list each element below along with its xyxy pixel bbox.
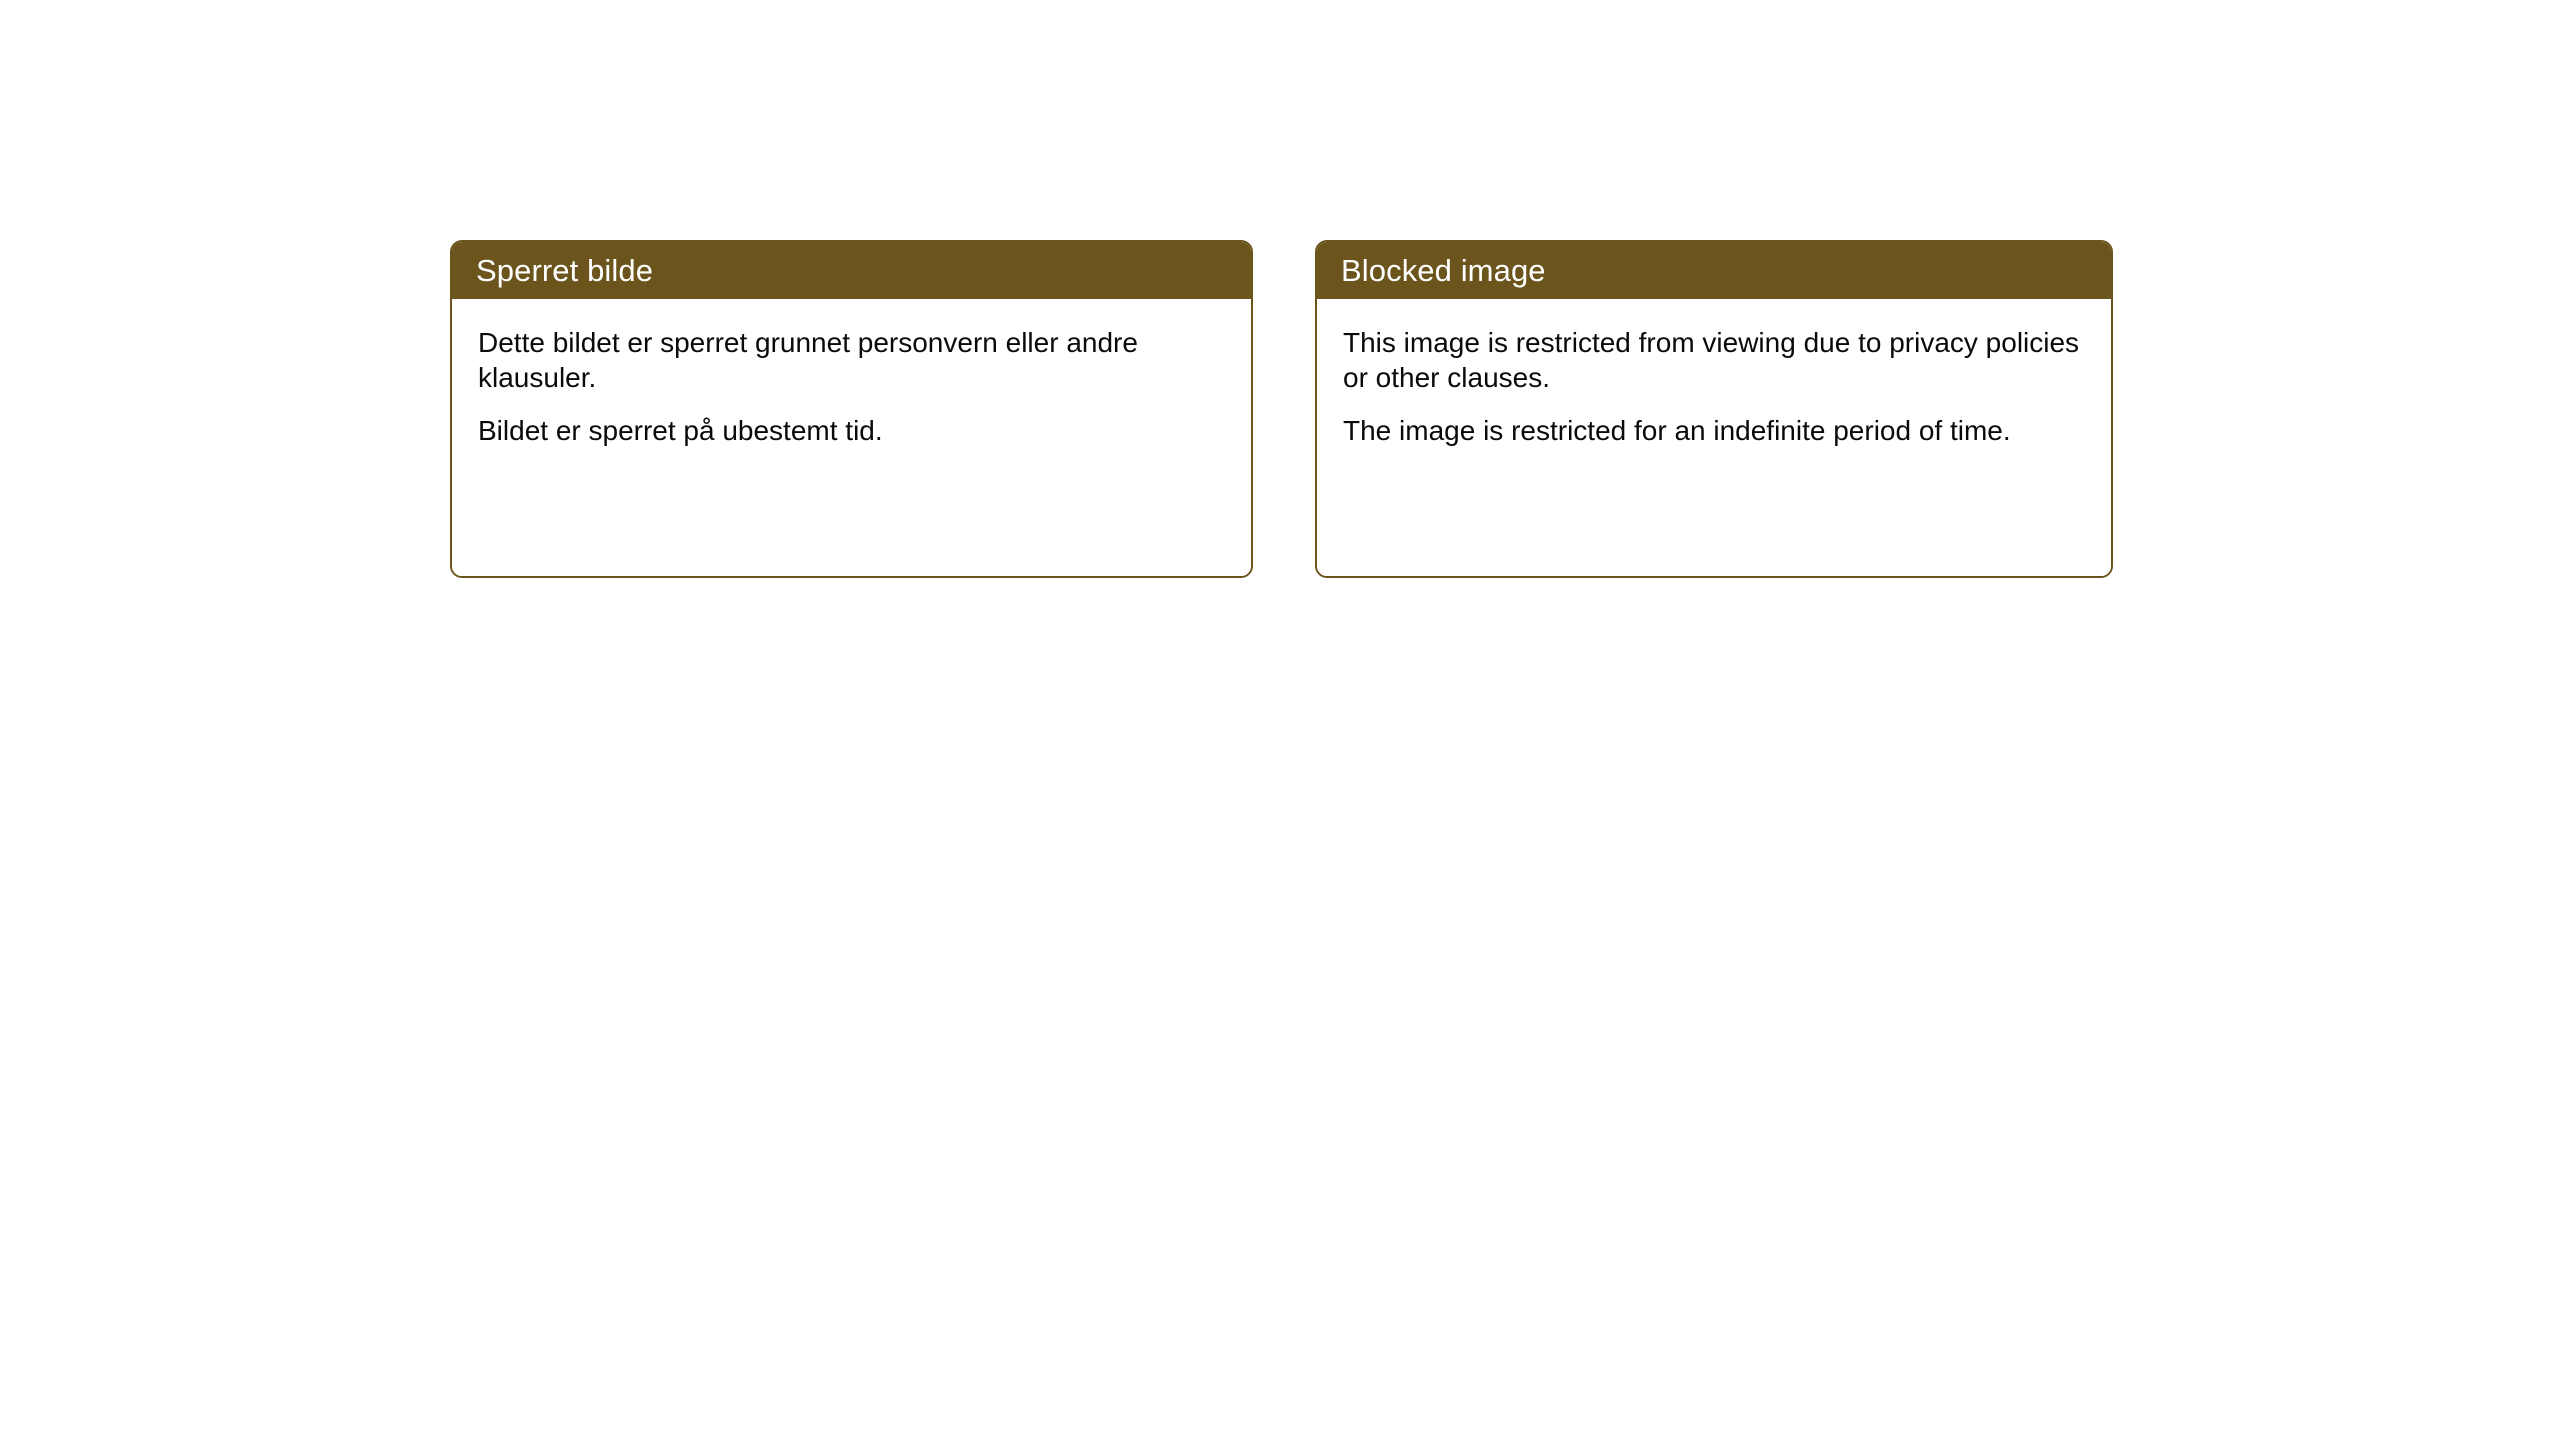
card-header-english: Blocked image bbox=[1317, 242, 2111, 299]
paragraph-spacer bbox=[1343, 395, 2091, 413]
card-body-norwegian: Dette bildet er sperret grunnet personve… bbox=[452, 299, 1251, 576]
paragraph-spacer bbox=[478, 395, 1231, 413]
card-header-norwegian: Sperret bilde bbox=[452, 242, 1251, 299]
card-body-english: This image is restricted from viewing du… bbox=[1317, 299, 2111, 576]
blocked-image-card-english: Blocked image This image is restricted f… bbox=[1315, 240, 2113, 578]
card-paragraph-primary-norwegian: Dette bildet er sperret grunnet personve… bbox=[478, 325, 1231, 395]
blocked-image-notice-group: Sperret bilde Dette bildet er sperret gr… bbox=[450, 240, 2113, 578]
card-paragraph-secondary-english: The image is restricted for an indefinit… bbox=[1343, 413, 2091, 448]
card-paragraph-secondary-norwegian: Bildet er sperret på ubestemt tid. bbox=[478, 413, 1231, 448]
card-title-english: Blocked image bbox=[1341, 255, 1546, 286]
blocked-image-card-norwegian: Sperret bilde Dette bildet er sperret gr… bbox=[450, 240, 1253, 578]
page-root: Sperret bilde Dette bildet er sperret gr… bbox=[0, 0, 2560, 1440]
card-title-norwegian: Sperret bilde bbox=[476, 255, 653, 286]
card-paragraph-primary-english: This image is restricted from viewing du… bbox=[1343, 325, 2091, 395]
